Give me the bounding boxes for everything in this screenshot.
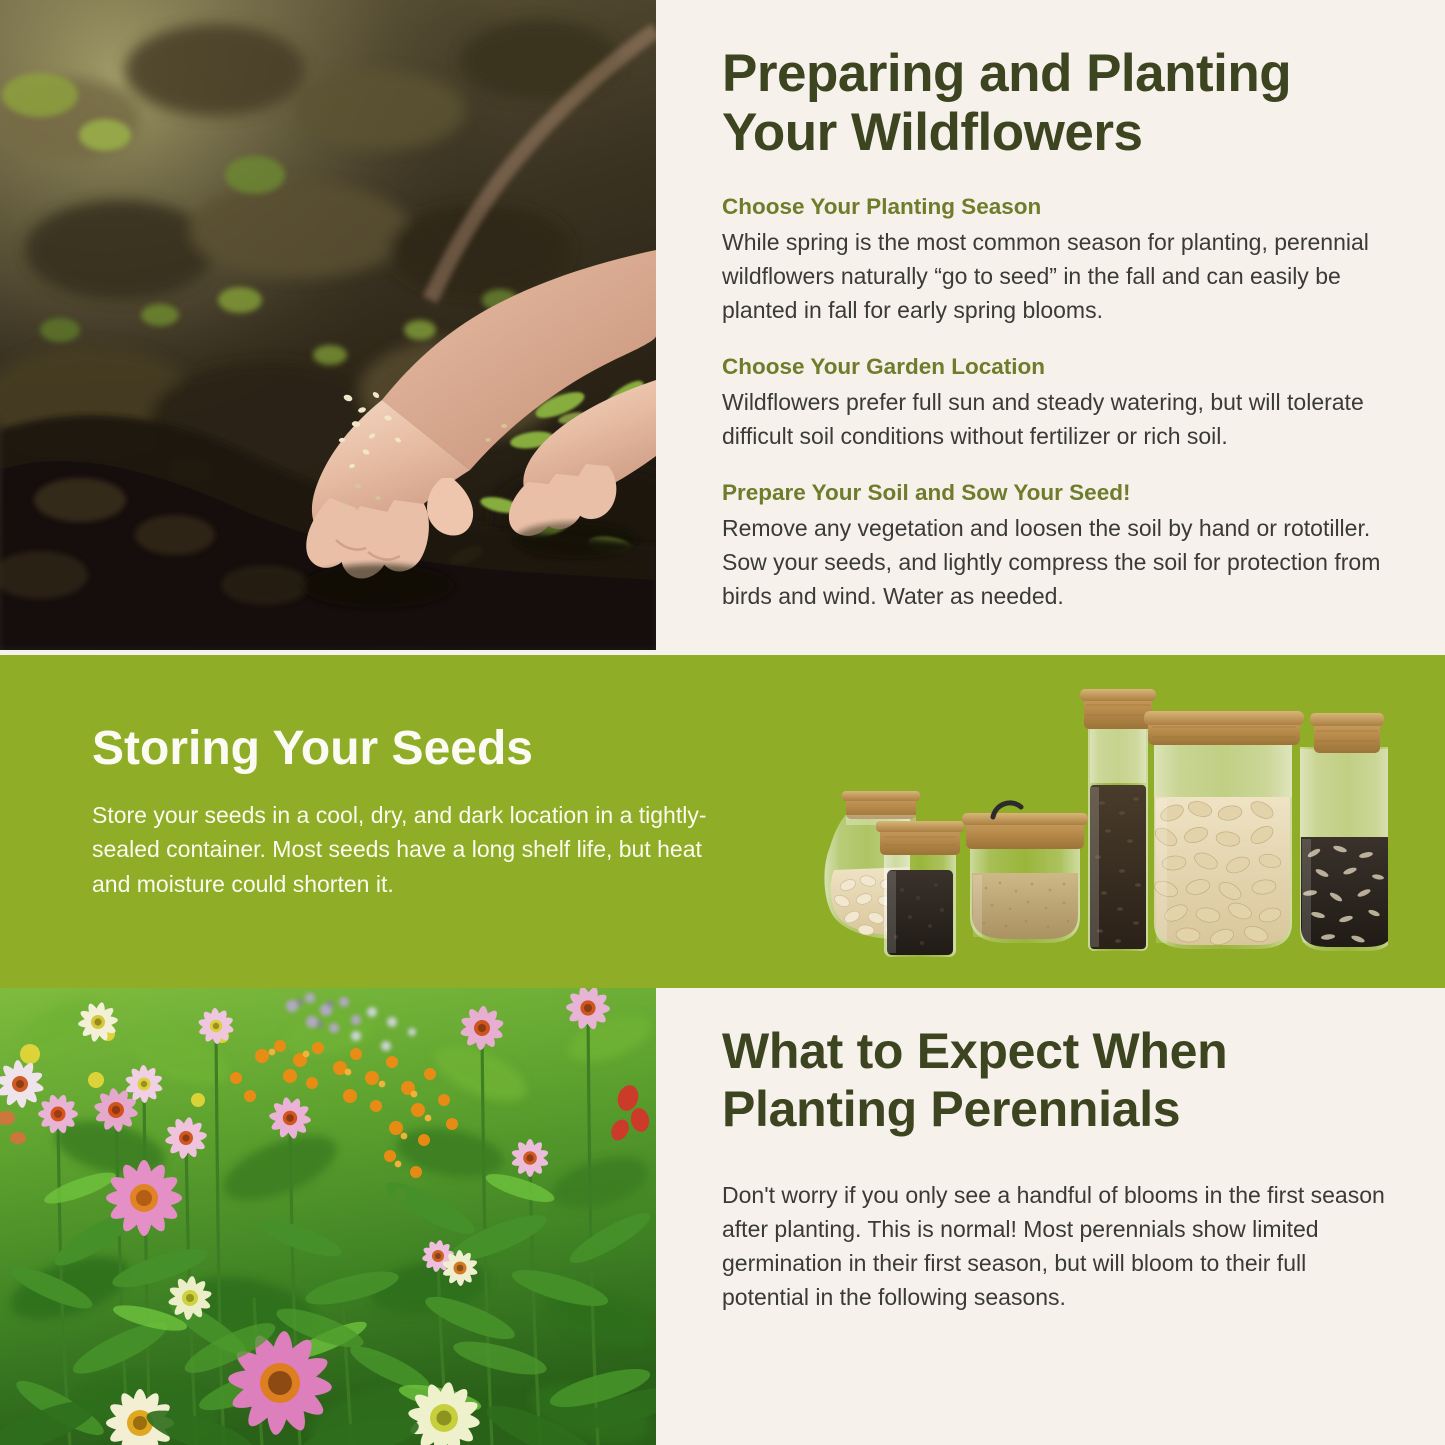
- section-what-to-expect: What to Expect When Planting Perennials …: [0, 988, 1445, 1445]
- subheading-planting-season: Choose Your Planting Season: [722, 193, 1392, 221]
- block-prepare-soil: Prepare Your Soil and Sow Your Seed! Rem…: [722, 479, 1392, 613]
- section-storing-your-seeds: Storing Your Seeds Store your seeds in a…: [0, 655, 1445, 988]
- infographic-page: Preparing and Planting Your Wildflowers …: [0, 0, 1445, 1445]
- block-garden-location: Choose Your Garden Location Wildflowers …: [722, 353, 1392, 453]
- body-planting-season: While spring is the most common season f…: [722, 225, 1392, 327]
- bottom-text-column: What to Expect When Planting Perennials …: [722, 1023, 1394, 1314]
- photo-wildflower-garden: [0, 988, 656, 1445]
- section-preparing-and-planting: Preparing and Planting Your Wildflowers …: [0, 0, 1445, 655]
- storing-seeds-title: Storing Your Seeds: [92, 723, 712, 776]
- what-to-expect-body: Don't worry if you only see a handful of…: [722, 1178, 1394, 1314]
- body-garden-location: Wildflowers prefer full sun and steady w…: [722, 385, 1392, 453]
- body-prepare-soil: Remove any vegetation and loosen the soi…: [722, 511, 1392, 613]
- green-text-column: Storing Your Seeds Store your seeds in a…: [92, 723, 712, 901]
- block-planting-season: Choose Your Planting Season While spring…: [722, 193, 1392, 327]
- top-text-column: Preparing and Planting Your Wildflowers …: [722, 44, 1392, 613]
- photo-seed-jars: [818, 685, 1388, 970]
- subheading-garden-location: Choose Your Garden Location: [722, 353, 1392, 381]
- subheading-prepare-soil: Prepare Your Soil and Sow Your Seed!: [722, 479, 1392, 507]
- photo-hand-sowing-seeds: [0, 0, 656, 650]
- page-title: Preparing and Planting Your Wildflowers: [722, 44, 1392, 163]
- what-to-expect-title: What to Expect When Planting Perennials: [722, 1023, 1394, 1138]
- storing-seeds-body: Store your seeds in a cool, dry, and dar…: [92, 798, 712, 902]
